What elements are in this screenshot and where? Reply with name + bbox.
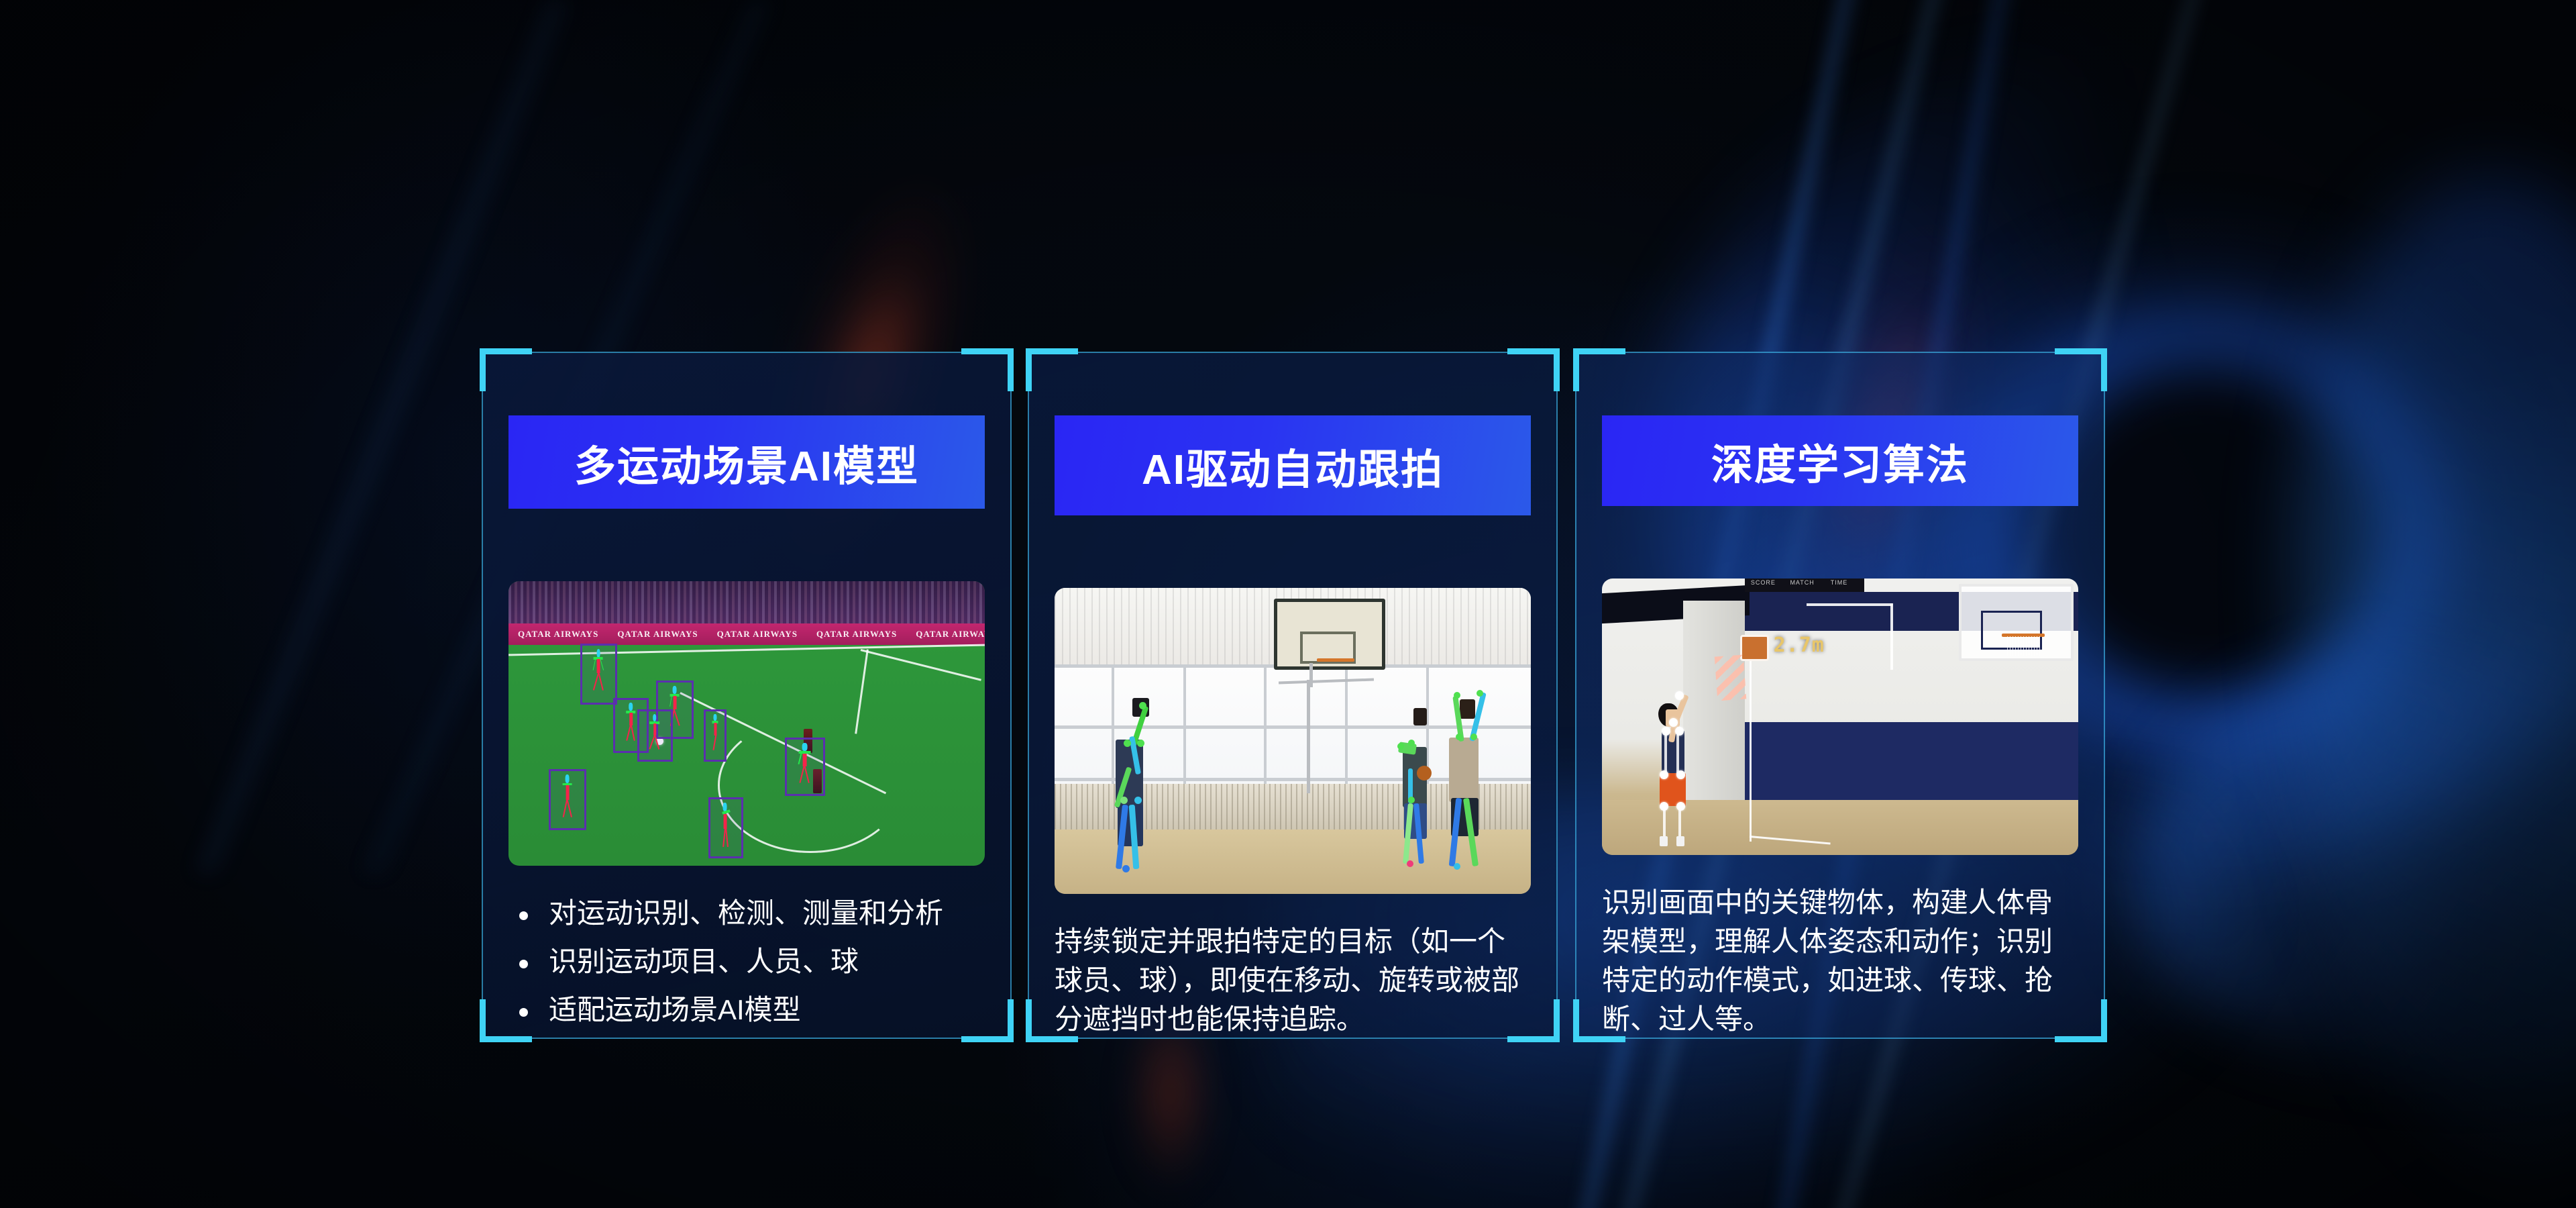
- player-pose-left: [1102, 698, 1179, 888]
- court-shot-measurement-image: SCORE MATCH TIME 2.7m: [1602, 578, 2078, 856]
- ball-trajectory-dashes: [1715, 655, 1746, 701]
- pose-skeleton-3: [624, 703, 639, 748]
- basketball-rim: [1317, 658, 1355, 662]
- detection-box-4: [637, 709, 673, 762]
- ad-banner-text-4: QATAR AIRWAYS: [906, 629, 985, 640]
- list-item: 适配运动场景AI模型: [508, 991, 985, 1029]
- card-body: 对运动识别、检测、测量和分析 识别运动项目、人员、球 适配运动场景AI模型: [508, 894, 985, 1039]
- keypoint-knee-right: [1676, 802, 1685, 811]
- feature-card-deep-learning-algorithm[interactable]: 深度学习算法 SCORE MATCH TIME: [1575, 352, 2105, 1039]
- pose-skeleton-8: [718, 803, 733, 853]
- ad-banner-text-2: QATAR AIRWAYS: [708, 629, 807, 640]
- pose-skeleton-1: [591, 649, 606, 699]
- card-body: 识别画面中的关键物体，构建人体骨架模型，理解人体姿态和动作；识别特定的动作模式，…: [1602, 883, 2078, 1039]
- measure-line-horizontal: [1807, 603, 1892, 606]
- detection-box-6: [785, 738, 825, 796]
- feature-bullet-list: 对运动识别、检测、测量和分析 识别运动项目、人员、球 适配运动场景AI模型: [508, 894, 985, 1029]
- feature-card-grid: 多运动场景AI模型 QATAR AIRWAYS QATAR AIRWAYS QA…: [0, 0, 2576, 1208]
- shooter-sock-right: [1676, 836, 1684, 847]
- ad-banner-text-0: QATAR AIRWAYS: [508, 629, 608, 640]
- gym-basketball-pose-image: [1055, 588, 1531, 894]
- feature-card-ai-auto-tracking[interactable]: AI驱动自动跟拍: [1028, 352, 1558, 1039]
- window-mullion-2: [1183, 664, 1186, 787]
- card-description: 识别画面中的关键物体，构建人体骨架模型，理解人体姿态和动作；识别特定的动作模式，…: [1602, 883, 2078, 1039]
- shooter-sock-left: [1660, 836, 1667, 847]
- measure-line-drop: [1890, 603, 1893, 670]
- scoreboard-label-score: SCORE: [1751, 579, 1776, 586]
- scoreboard-label-match: MATCH: [1790, 579, 1814, 586]
- measurement-value-label: 2.7m: [1774, 634, 1825, 657]
- card-title: AI驱动自动跟拍: [1055, 415, 1531, 515]
- pitch-advertising-board: QATAR AIRWAYS QATAR AIRWAYS QATAR AIRWAY…: [508, 623, 985, 645]
- measure-line-vertical: [1750, 642, 1752, 842]
- ball-detection-box: [1740, 635, 1769, 661]
- card-body: 持续锁定并跟拍特定的目标（如一个球员、球），即使在移动、旋转或被部分遮挡时也能保…: [1055, 922, 1531, 1039]
- keypoint-elbow: [1669, 718, 1678, 727]
- basketball: [1417, 766, 1432, 781]
- soccer-pitch-detection-image: QATAR AIRWAYS QATAR AIRWAYS QATAR AIRWAY…: [508, 581, 985, 866]
- card-description: 持续锁定并跟拍特定的目标（如一个球员、球），即使在移动、旋转或被部分遮挡时也能保…: [1055, 922, 1531, 1039]
- list-item: 对运动识别、检测、测量和分析: [508, 894, 985, 933]
- detection-box-7: [549, 769, 586, 830]
- shooter-pose: [1640, 700, 1717, 850]
- keypoint-shoulder-left: [1662, 727, 1670, 736]
- card-title: 深度学习算法: [1602, 415, 2078, 506]
- skeleton-spine: [1664, 730, 1667, 775]
- court-wall-navy-lower: [1745, 722, 2078, 800]
- feature-card-multi-sport-ai-model[interactable]: 多运动场景AI模型 QATAR AIRWAYS QATAR AIRWAYS QA…: [482, 352, 1012, 1039]
- pose-skeleton-5: [711, 714, 720, 757]
- scoreboard-label-time: TIME: [1831, 579, 1848, 586]
- keypoint-knee-left: [1660, 802, 1668, 811]
- player-pose-right-2: [1436, 692, 1512, 882]
- hoop-post: [1307, 680, 1310, 793]
- ad-banner-text-3: QATAR AIRWAYS: [807, 629, 906, 640]
- ad-banner-text-1: QATAR AIRWAYS: [608, 629, 707, 640]
- keypoint-wrist: [1675, 691, 1684, 700]
- skeleton-side: [1676, 730, 1679, 775]
- pose-skeleton-6: [796, 743, 813, 791]
- window-mullion-4: [1345, 664, 1348, 787]
- detection-box-8: [708, 797, 743, 858]
- detection-box-5: [704, 709, 727, 762]
- pose-skeleton-4: [647, 714, 662, 757]
- court-net: [2007, 636, 2041, 656]
- pitch-crowd-stand: [508, 581, 985, 630]
- window-mullion-3: [1264, 664, 1267, 787]
- card-title: 多运动场景AI模型: [508, 415, 985, 509]
- list-item: 识别运动项目、人员、球: [508, 942, 985, 981]
- pose-skeleton-7: [560, 774, 576, 825]
- court-scoreboard: SCORE MATCH TIME: [1745, 578, 1864, 593]
- detection-box-1: [580, 644, 618, 705]
